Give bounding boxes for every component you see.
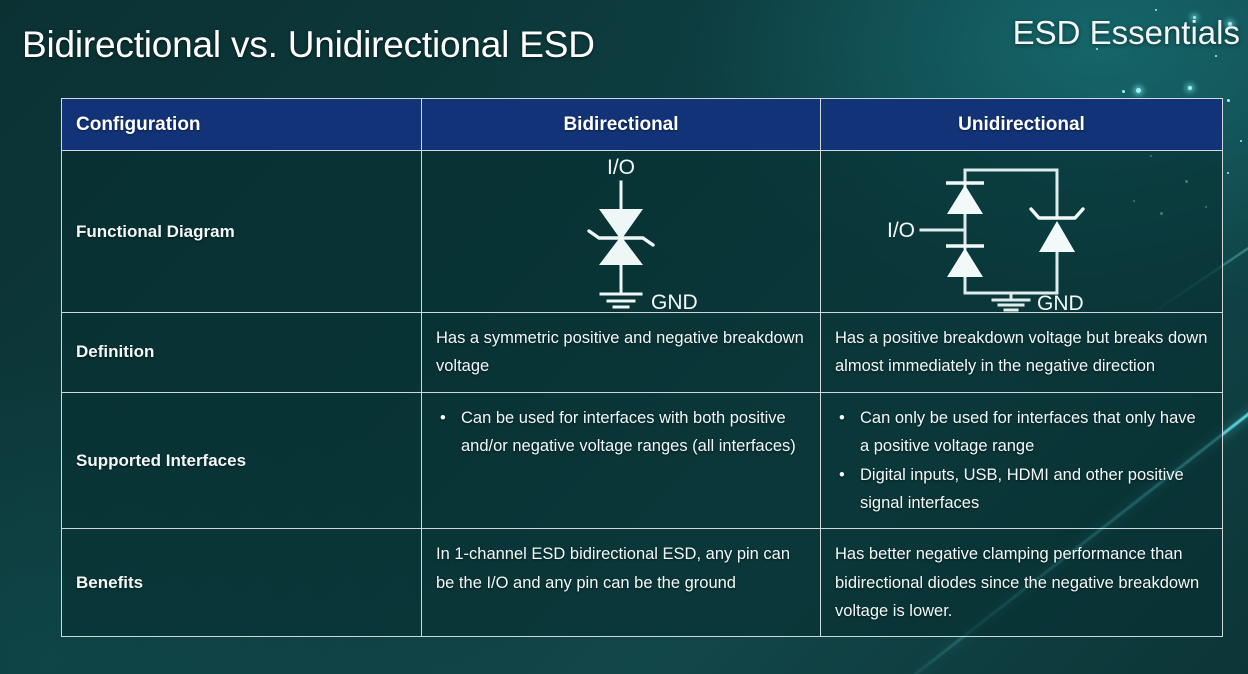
rowlabel-supported-interfaces: Supported Interfaces — [62, 392, 422, 529]
rowlabel-benefits: Benefits — [62, 529, 422, 637]
header-bidirectional: Bidirectional — [422, 99, 821, 151]
list-item: Can be used for interfaces with both pos… — [436, 404, 806, 461]
io-label: I/O — [887, 219, 915, 242]
gnd-label: GND — [1037, 292, 1084, 312]
header-unidirectional: Unidirectional — [821, 99, 1223, 151]
table-header: Configuration Bidirectional Unidirection… — [62, 99, 1223, 151]
comparison-table: Configuration Bidirectional Unidirection… — [61, 98, 1223, 637]
rowlabel-definition: Definition — [62, 313, 422, 393]
cell-definition-unidirectional: Has a positive breakdown voltage but bre… — [821, 313, 1223, 393]
table-row: Supported Interfaces Can be used for int… — [62, 392, 1223, 529]
table-header-row: Configuration Bidirectional Unidirection… — [62, 99, 1223, 151]
header-configuration: Configuration — [62, 99, 422, 151]
list-item: Digital inputs, USB, HDMI and other posi… — [835, 461, 1208, 518]
cell-benefits-unidirectional: Has better negative clamping performance… — [821, 529, 1223, 637]
cell-interfaces-bidirectional: Can be used for interfaces with both pos… — [422, 392, 821, 529]
gnd-label: GND — [651, 291, 698, 312]
steering-diode-upper — [947, 185, 983, 214]
bullet-list: Can only be used for interfaces that onl… — [835, 404, 1208, 518]
table-row: Definition Has a symmetric positive and … — [62, 313, 1223, 393]
particle-dot — [1215, 55, 1217, 57]
particle-dot — [1136, 88, 1141, 93]
unidirectional-steering-diode-array-icon: I/O GND — [887, 152, 1157, 312]
bullet-list: Can be used for interfaces with both pos… — [436, 404, 806, 461]
cell-definition-bidirectional: Has a symmetric positive and negative br… — [422, 313, 821, 393]
series-kicker: ESD Essentials — [1013, 14, 1240, 52]
bidirectional-tvs-diode-icon: I/O GND — [521, 152, 721, 312]
list-item: Can only be used for interfaces that onl… — [835, 404, 1208, 461]
particle-dot — [1188, 86, 1192, 90]
page-title: Bidirectional vs. Unidirectional ESD — [22, 24, 595, 66]
particle-dot — [1227, 172, 1229, 174]
cell-bidirectional-diagram: I/O GND — [422, 151, 821, 313]
table-row: Functional Diagram — [62, 151, 1223, 313]
particle-dot — [1240, 140, 1242, 142]
slide-canvas: Bidirectional vs. Unidirectional ESD ESD… — [0, 0, 1248, 674]
particle-dot — [1227, 99, 1230, 102]
particle-dot — [1155, 9, 1157, 11]
rowlabel-functional-diagram: Functional Diagram — [62, 151, 422, 313]
io-label: I/O — [607, 156, 635, 179]
cell-interfaces-unidirectional: Can only be used for interfaces that onl… — [821, 392, 1223, 529]
table-row: Benefits In 1-channel ESD bidirectional … — [62, 529, 1223, 637]
steering-diode-lower — [947, 248, 983, 277]
diode-triangle-lower — [599, 236, 643, 265]
cell-unidirectional-diagram: I/O GND — [821, 151, 1223, 313]
diode-triangle-upper — [599, 209, 643, 240]
cell-benefits-bidirectional: In 1-channel ESD bidirectional ESD, any … — [422, 529, 821, 637]
table-body: Functional Diagram — [62, 151, 1223, 637]
zener-diode — [1039, 221, 1075, 252]
particle-dot — [1122, 90, 1125, 93]
